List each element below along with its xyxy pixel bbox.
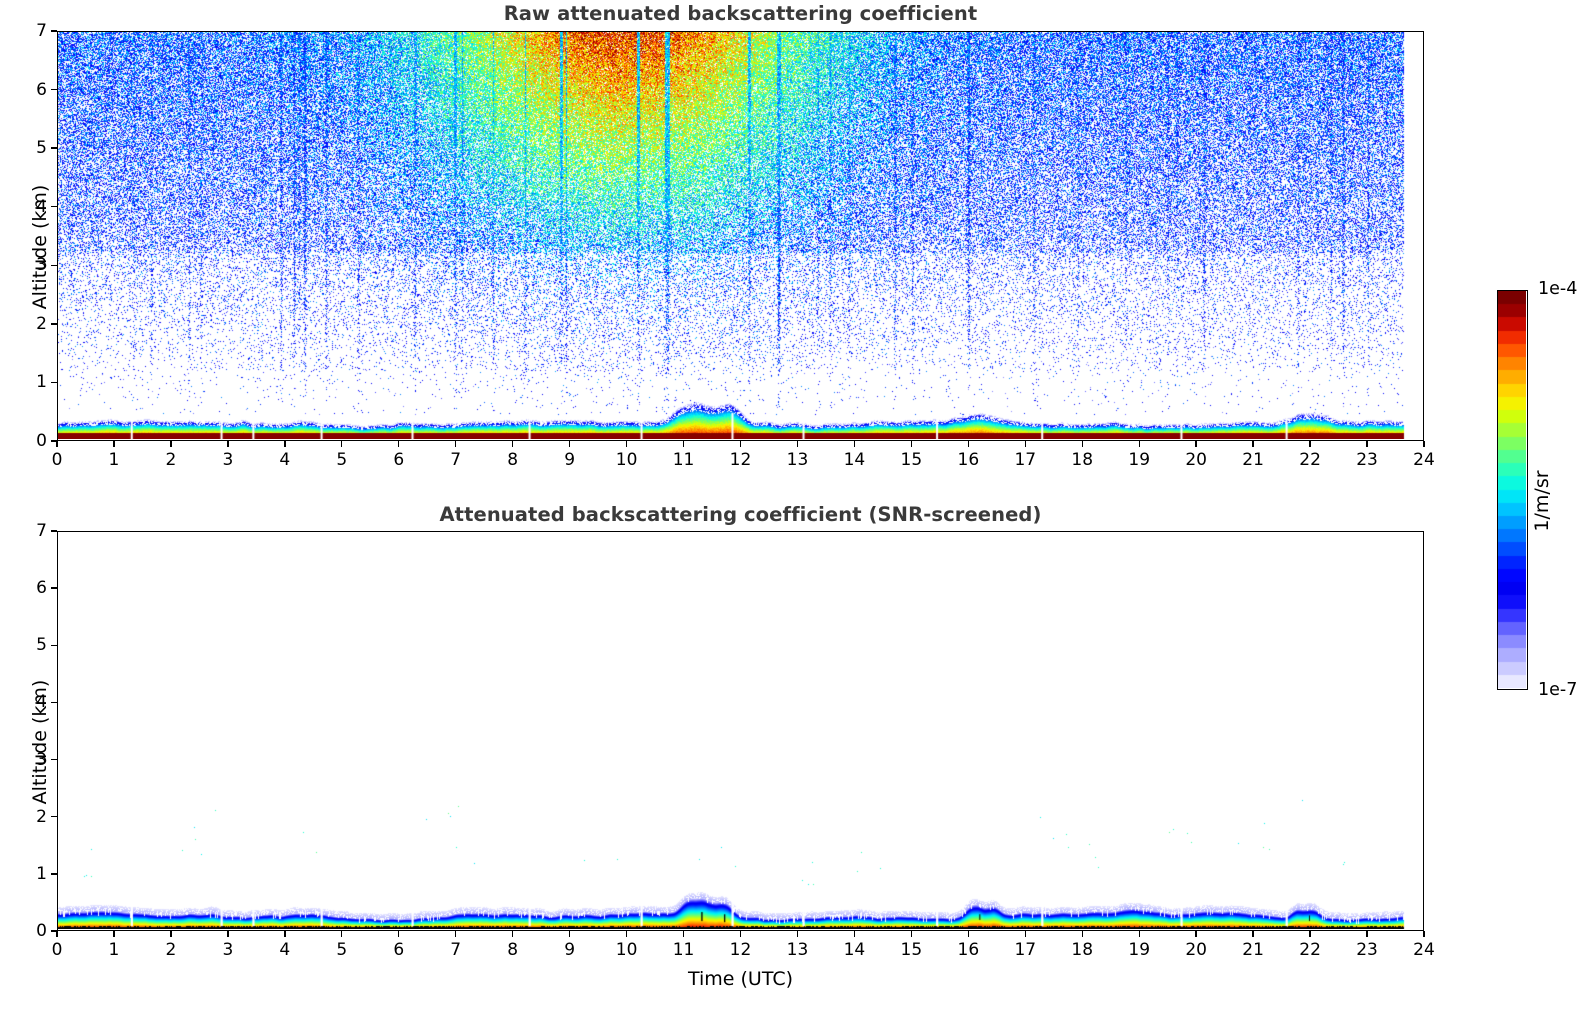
x-tick-label: 11 — [673, 450, 695, 470]
x-tick-label: 17 — [1014, 450, 1036, 470]
x-tickmark — [626, 931, 627, 937]
x-tick-label: 19 — [1128, 940, 1150, 960]
x-tick-label: 23 — [1356, 940, 1378, 960]
x-tickmark — [968, 931, 969, 937]
x-tick-label: 9 — [564, 940, 575, 960]
plot-panel-screened[interactable] — [57, 531, 1424, 931]
x-tickmark — [1195, 441, 1196, 447]
y-tick-label: 0 — [15, 431, 47, 451]
heatmap-raw — [58, 32, 1422, 439]
y-tickmark — [51, 265, 57, 266]
x-tick-label: 23 — [1356, 450, 1378, 470]
colorbar-unit-label: 1/m/sr — [1531, 446, 1553, 556]
y-tick-label: 0 — [15, 921, 47, 941]
x-tick-label: 1 — [109, 940, 120, 960]
x-tick-label: 4 — [279, 940, 290, 960]
y-tick-label: 6 — [15, 578, 47, 598]
x-tick-label: 12 — [730, 450, 752, 470]
x-tickmark — [512, 441, 513, 447]
y-tickmark — [51, 816, 57, 817]
x-tickmark — [1082, 441, 1083, 447]
x-tickmark — [1423, 441, 1424, 447]
y-tickmark — [51, 147, 57, 148]
x-tick-label: 18 — [1071, 940, 1093, 960]
x-tickmark — [854, 931, 855, 937]
y-tickmark — [51, 382, 57, 383]
y-tick-label: 7 — [15, 21, 47, 41]
x-tickmark — [341, 441, 342, 447]
colorbar-max-label: 1e-4 — [1538, 279, 1577, 299]
y-tickmark — [51, 873, 57, 874]
x-tick-label: 10 — [616, 450, 638, 470]
x-tickmark — [1025, 441, 1026, 447]
x-tickmark — [740, 931, 741, 937]
y-axis-label-top: Altitude (km) — [29, 167, 51, 327]
x-tick-label: 0 — [52, 940, 63, 960]
x-tickmark — [512, 931, 513, 937]
y-tickmark — [51, 89, 57, 90]
y-tick-label: 5 — [15, 138, 47, 158]
x-tickmark — [284, 931, 285, 937]
x-tick-label: 16 — [958, 940, 980, 960]
panel-title-top: Raw attenuated backscattering coefficien… — [57, 2, 1424, 25]
x-tickmark — [911, 931, 912, 937]
x-tick-label: 20 — [1185, 940, 1207, 960]
y-tick-label: 6 — [15, 80, 47, 100]
x-tickmark — [1025, 931, 1026, 937]
y-tick-label: 3 — [15, 255, 47, 275]
y-tick-label: 7 — [15, 521, 47, 541]
x-tick-label: 3 — [222, 450, 233, 470]
x-tickmark — [1082, 931, 1083, 937]
y-tickmark — [51, 30, 57, 31]
panel-title-bottom: Attenuated backscattering coefficient (S… — [57, 503, 1424, 526]
x-tick-label: 4 — [279, 450, 290, 470]
x-tick-label: 9 — [564, 450, 575, 470]
x-tickmark — [1139, 441, 1140, 447]
x-tickmark — [626, 441, 627, 447]
x-tickmark — [398, 931, 399, 937]
x-tickmark — [683, 931, 684, 937]
x-tick-label: 21 — [1242, 450, 1264, 470]
y-tick-label: 2 — [15, 807, 47, 827]
x-tick-label: 8 — [507, 450, 518, 470]
y-tickmark — [51, 323, 57, 324]
x-tick-label: 2 — [165, 940, 176, 960]
x-tick-label: 21 — [1242, 940, 1264, 960]
x-tickmark — [1309, 441, 1310, 447]
y-tickmark — [51, 645, 57, 646]
colorbar-min-label: 1e-7 — [1538, 680, 1577, 700]
x-tick-label: 22 — [1299, 940, 1321, 960]
y-tickmark — [51, 206, 57, 207]
x-tick-label: 13 — [787, 450, 809, 470]
x-tick-label: 14 — [844, 450, 866, 470]
x-tickmark — [113, 441, 114, 447]
y-tickmark — [51, 702, 57, 703]
x-tickmark — [1252, 441, 1253, 447]
x-tickmark — [170, 931, 171, 937]
x-tick-label: 7 — [450, 940, 461, 960]
x-tickmark — [113, 931, 114, 937]
x-tick-label: 3 — [222, 940, 233, 960]
x-tickmark — [1366, 441, 1367, 447]
x-tickmark — [170, 441, 171, 447]
x-tick-label: 22 — [1299, 450, 1321, 470]
x-tick-label: 17 — [1014, 940, 1036, 960]
x-tickmark — [1195, 931, 1196, 937]
y-tick-label: 3 — [15, 750, 47, 770]
x-tickmark — [683, 441, 684, 447]
x-tick-label: 18 — [1071, 450, 1093, 470]
y-tick-label: 4 — [15, 197, 47, 217]
x-tick-label: 15 — [901, 940, 923, 960]
x-tickmark — [56, 441, 57, 447]
y-tick-label: 1 — [15, 864, 47, 884]
x-tick-label: 19 — [1128, 450, 1150, 470]
y-tickmark — [51, 930, 57, 931]
x-tickmark — [968, 441, 969, 447]
x-tickmark — [455, 441, 456, 447]
y-tickmark — [51, 530, 57, 531]
colorbar[interactable] — [1497, 290, 1528, 690]
x-tick-label: 8 — [507, 940, 518, 960]
x-tick-label: 20 — [1185, 450, 1207, 470]
x-axis-label: Time (UTC) — [57, 968, 1424, 990]
figure-canvas: Raw attenuated backscattering coefficien… — [0, 0, 1595, 1020]
x-tick-label: 6 — [393, 940, 404, 960]
x-tickmark — [797, 931, 798, 937]
x-tickmark — [1366, 931, 1367, 937]
x-tick-label: 6 — [393, 450, 404, 470]
y-tick-label: 5 — [15, 635, 47, 655]
x-tick-label: 5 — [336, 940, 347, 960]
x-tick-label: 16 — [958, 450, 980, 470]
y-tickmark — [51, 759, 57, 760]
x-tickmark — [740, 441, 741, 447]
x-tick-label: 13 — [787, 940, 809, 960]
x-tickmark — [797, 441, 798, 447]
x-tick-label: 1 — [109, 450, 120, 470]
x-tickmark — [455, 931, 456, 937]
x-tickmark — [227, 931, 228, 937]
x-tickmark — [341, 931, 342, 937]
colorbar-gradient — [1498, 291, 1526, 688]
x-tick-label: 24 — [1413, 450, 1435, 470]
x-tickmark — [854, 441, 855, 447]
x-tick-label: 10 — [616, 940, 638, 960]
y-axis-label-bottom: Altitude (km) — [29, 662, 51, 822]
x-tick-label: 15 — [901, 450, 923, 470]
x-tickmark — [569, 441, 570, 447]
y-tick-label: 2 — [15, 314, 47, 334]
x-tick-label: 11 — [673, 940, 695, 960]
x-tickmark — [56, 931, 57, 937]
y-tick-label: 4 — [15, 692, 47, 712]
y-tickmark — [51, 587, 57, 588]
x-tickmark — [1423, 931, 1424, 937]
y-tickmark — [51, 440, 57, 441]
x-tick-label: 2 — [165, 450, 176, 470]
x-tickmark — [1139, 931, 1140, 937]
x-tick-label: 7 — [450, 450, 461, 470]
plot-panel-raw[interactable] — [57, 31, 1424, 441]
x-tickmark — [227, 441, 228, 447]
x-tick-label: 0 — [52, 450, 63, 470]
x-tickmark — [398, 441, 399, 447]
x-tickmark — [911, 441, 912, 447]
x-tick-label: 14 — [844, 940, 866, 960]
x-tick-label: 12 — [730, 940, 752, 960]
x-tickmark — [1252, 931, 1253, 937]
x-tick-label: 24 — [1413, 940, 1435, 960]
x-tickmark — [284, 441, 285, 447]
x-tickmark — [569, 931, 570, 937]
heatmap-screened — [58, 532, 1422, 929]
x-tick-label: 5 — [336, 450, 347, 470]
x-tickmark — [1309, 931, 1310, 937]
y-tick-label: 1 — [15, 372, 47, 392]
